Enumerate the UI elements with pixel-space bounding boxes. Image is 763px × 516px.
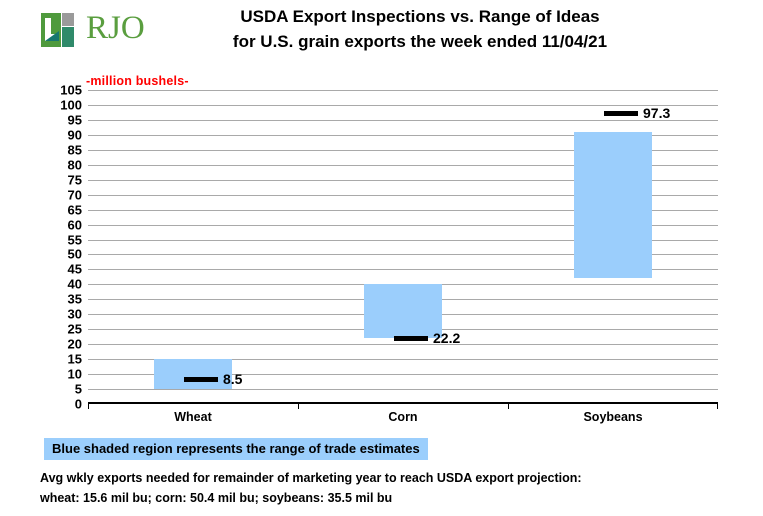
y-axis-tick-label: 15 <box>36 352 82 367</box>
gridline <box>88 90 718 91</box>
y-axis-tick-label: 85 <box>36 142 82 157</box>
y-axis-tick-label: 105 <box>36 83 82 98</box>
gridline <box>88 344 718 345</box>
x-axis-label-wheat: Wheat <box>88 410 298 424</box>
legend-note: Blue shaded region represents the range … <box>44 438 428 460</box>
y-axis-tick-label: 90 <box>36 127 82 142</box>
gridline <box>88 120 718 121</box>
rjo-logo: RJO <box>40 8 152 53</box>
y-axis-tick-label: 80 <box>36 157 82 172</box>
footnote-line-2: wheat: 15.6 mil bu; corn: 50.4 mil bu; s… <box>40 491 392 505</box>
y-axis-units-label: -million bushels- <box>86 74 189 88</box>
y-axis-tick-label: 0 <box>36 397 82 412</box>
page-header: RJO USDA Export Inspections vs. Range of… <box>0 0 763 70</box>
y-axis-tick-label: 25 <box>36 322 82 337</box>
y-axis-tick-label: 40 <box>36 277 82 292</box>
y-axis-tick-label: 70 <box>36 187 82 202</box>
y-axis-tick-label: 45 <box>36 262 82 277</box>
x-axis-tick <box>717 403 718 409</box>
y-axis-tick-label: 20 <box>36 337 82 352</box>
chart-area: -million bushels- 1051009590858075706560… <box>0 70 763 430</box>
inspection-marker-soybeans <box>604 111 638 116</box>
rjo-square-logo-icon <box>40 10 82 50</box>
inspection-marker-corn <box>394 336 428 341</box>
page-title: USDA Export Inspections vs. Range of Ide… <box>160 4 680 54</box>
x-axis-tick <box>508 403 509 409</box>
gridline <box>88 105 718 106</box>
y-axis-tick-label: 100 <box>36 97 82 112</box>
plot-area: 8.522.297.3 <box>88 90 718 404</box>
inspection-value-corn: 22.2 <box>433 330 460 346</box>
footnote-line-1: Avg wkly exports needed for remainder of… <box>40 471 582 485</box>
range-bar-wheat <box>154 359 232 389</box>
page-title-line2: for U.S. grain exports the week ended 11… <box>160 29 680 54</box>
x-axis-line <box>88 402 718 404</box>
y-axis-tick-label: 55 <box>36 232 82 247</box>
y-axis-tick-label: 50 <box>36 247 82 262</box>
y-axis-tick-label: 5 <box>36 382 82 397</box>
range-bar-corn <box>364 284 442 338</box>
rjo-logo-text: RJO <box>86 7 145 49</box>
y-axis-tick-label: 95 <box>36 112 82 127</box>
gridline <box>88 389 718 390</box>
y-axis-tick-labels: 1051009590858075706560555045403530252015… <box>30 90 82 404</box>
y-axis-tick-label: 75 <box>36 172 82 187</box>
x-axis-label-soybeans: Soybeans <box>508 410 718 424</box>
inspection-value-wheat: 8.5 <box>223 371 242 387</box>
y-axis-tick-label: 30 <box>36 307 82 322</box>
range-bar-soybeans <box>574 132 652 279</box>
y-axis-tick-label: 60 <box>36 217 82 232</box>
inspection-value-soybeans: 97.3 <box>643 105 670 121</box>
y-axis-tick-label: 65 <box>36 202 82 217</box>
x-axis-tick <box>88 403 89 409</box>
inspection-marker-wheat <box>184 377 218 382</box>
x-axis-label-corn: Corn <box>298 410 508 424</box>
x-axis-tick <box>298 403 299 409</box>
page-title-line1: USDA Export Inspections vs. Range of Ide… <box>160 4 680 29</box>
y-axis-tick-label: 35 <box>36 292 82 307</box>
y-axis-tick-label: 10 <box>36 367 82 382</box>
